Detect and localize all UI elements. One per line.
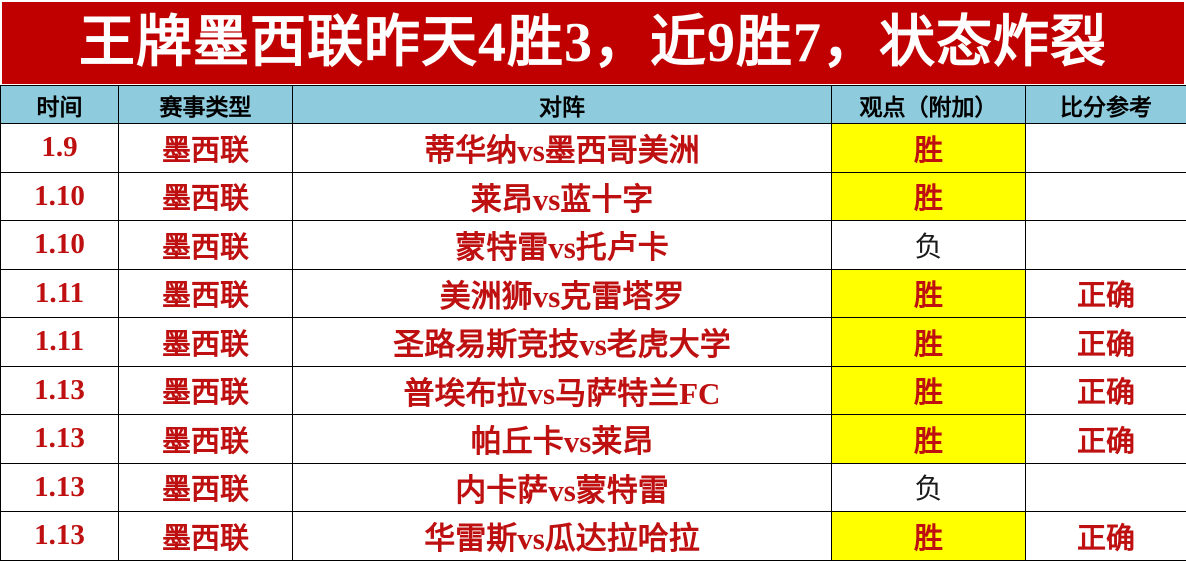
table-body: 1.9墨西联蒂华纳vs墨西哥美洲胜1.10墨西联莱昂vs蓝十字胜1.10墨西联蒙… — [1, 124, 1186, 561]
cell-league: 墨西联 — [119, 366, 293, 415]
table-header-row: 时间 赛事类型 对阵 观点（附加） 比分参考 — [1, 86, 1186, 124]
cell-match: 美洲狮vs克雷塔罗 — [293, 269, 832, 318]
cell-opinion: 胜 — [832, 415, 1026, 464]
cell-league: 墨西联 — [119, 172, 293, 221]
cell-score: 正确 — [1026, 366, 1186, 415]
cell-league: 墨西联 — [119, 512, 293, 561]
column-header-match: 对阵 — [293, 86, 832, 124]
cell-score: 正确 — [1026, 415, 1186, 464]
table-row: 1.11墨西联圣路易斯竞技vs老虎大学胜正确 — [1, 318, 1186, 367]
column-header-time: 时间 — [1, 86, 119, 124]
column-header-opinion: 观点（附加） — [832, 86, 1026, 124]
match-prediction-table: 时间 赛事类型 对阵 观点（附加） 比分参考 1.9墨西联蒂华纳vs墨西哥美洲胜… — [0, 85, 1186, 561]
cell-score: 正确 — [1026, 512, 1186, 561]
cell-time: 1.11 — [1, 269, 119, 318]
cell-league: 墨西联 — [119, 415, 293, 464]
cell-opinion: 胜 — [832, 318, 1026, 367]
table-header: 时间 赛事类型 对阵 观点（附加） 比分参考 — [1, 86, 1186, 124]
table-row: 1.9墨西联蒂华纳vs墨西哥美洲胜 — [1, 124, 1186, 173]
table-row: 1.10墨西联莱昂vs蓝十字胜 — [1, 172, 1186, 221]
cell-match: 华雷斯vs瓜达拉哈拉 — [293, 512, 832, 561]
cell-league: 墨西联 — [119, 318, 293, 367]
cell-time: 1.11 — [1, 318, 119, 367]
cell-opinion: 胜 — [832, 269, 1026, 318]
cell-opinion: 胜 — [832, 172, 1026, 221]
column-header-score: 比分参考 — [1026, 86, 1186, 124]
cell-time: 1.13 — [1, 415, 119, 464]
cell-time: 1.13 — [1, 463, 119, 512]
page-title: 王牌墨西联昨天4胜3，近9胜7，状态炸裂 — [79, 15, 1107, 71]
cell-league: 墨西联 — [119, 124, 293, 173]
table-row: 1.13墨西联华雷斯vs瓜达拉哈拉胜正确 — [1, 512, 1186, 561]
cell-match: 内卡萨vs蒙特雷 — [293, 463, 832, 512]
prediction-table-page: 王牌墨西联昨天4胜3，近9胜7，状态炸裂 时间 赛事类型 对阵 观点（附加） 比… — [0, 0, 1186, 562]
cell-match: 莱昂vs蓝十字 — [293, 172, 832, 221]
cell-match: 普埃布拉vs马萨特兰FC — [293, 366, 832, 415]
title-banner: 王牌墨西联昨天4胜3，近9胜7，状态炸裂 — [2, 2, 1184, 84]
cell-opinion: 胜 — [832, 366, 1026, 415]
cell-opinion: 负 — [832, 221, 1026, 270]
cell-match: 圣路易斯竞技vs老虎大学 — [293, 318, 832, 367]
cell-time: 1.10 — [1, 221, 119, 270]
cell-score: 正确 — [1026, 318, 1186, 367]
cell-opinion: 负 — [832, 463, 1026, 512]
cell-match: 帕丘卡vs莱昂 — [293, 415, 832, 464]
cell-match: 蒙特雷vs托卢卡 — [293, 221, 832, 270]
table-row: 1.10墨西联蒙特雷vs托卢卡负 — [1, 221, 1186, 270]
cell-match: 蒂华纳vs墨西哥美洲 — [293, 124, 832, 173]
table-row: 1.11墨西联美洲狮vs克雷塔罗胜正确 — [1, 269, 1186, 318]
cell-score: 正确 — [1026, 269, 1186, 318]
cell-league: 墨西联 — [119, 221, 293, 270]
cell-score — [1026, 172, 1186, 221]
table-row: 1.13墨西联普埃布拉vs马萨特兰FC胜正确 — [1, 366, 1186, 415]
cell-league: 墨西联 — [119, 463, 293, 512]
cell-opinion: 胜 — [832, 512, 1026, 561]
cell-time: 1.9 — [1, 124, 119, 173]
cell-time: 1.13 — [1, 366, 119, 415]
cell-score — [1026, 124, 1186, 173]
cell-time: 1.10 — [1, 172, 119, 221]
cell-time: 1.13 — [1, 512, 119, 561]
table-row: 1.13墨西联帕丘卡vs莱昂胜正确 — [1, 415, 1186, 464]
cell-score — [1026, 221, 1186, 270]
cell-opinion: 胜 — [832, 124, 1026, 173]
cell-score — [1026, 463, 1186, 512]
cell-league: 墨西联 — [119, 269, 293, 318]
column-header-league: 赛事类型 — [119, 86, 293, 124]
table-row: 1.13墨西联内卡萨vs蒙特雷负 — [1, 463, 1186, 512]
